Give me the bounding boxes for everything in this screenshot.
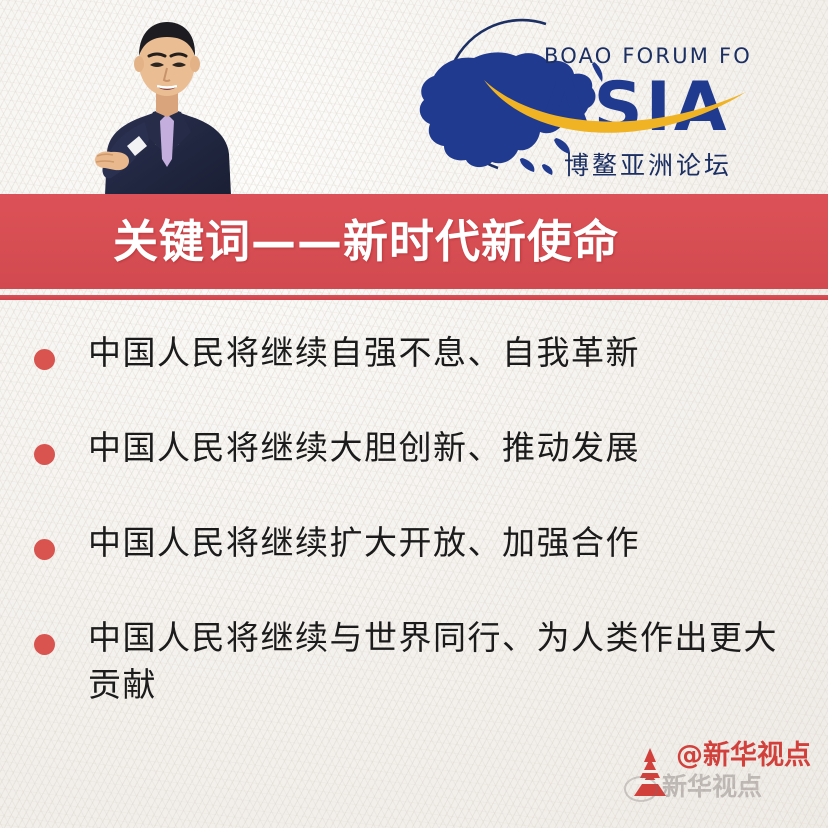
bullet-dot-icon [34,349,55,370]
header-area: BOAO FORUM FOR ASIA 博鳌亚洲论坛 [0,0,828,195]
logo-chinese-text: 博鳌亚洲论坛 [564,151,732,180]
list-item: 中国人民将继续大胆创新、推动发展 [0,425,828,520]
list-item-label: 中国人民将继续自强不息、自我革新 [88,330,640,377]
poster-canvas: BOAO FORUM FOR ASIA 博鳌亚洲论坛 关键词——新时代新使命 中… [0,0,828,828]
xinhua-watermark-text: 新华视点 [662,774,762,799]
list-item-label: 中国人民将继续与世界同行、为人类作出更大贡献 [88,615,788,709]
banner-underline-rule [0,295,828,300]
bullet-dot-icon [34,539,55,560]
logo-line2-text: ASIA [538,68,730,147]
boao-forum-logo: BOAO FORUM FOR ASIA 博鳌亚洲论坛 [398,18,750,186]
list-item-label: 中国人民将继续大胆创新、推动发展 [88,425,640,472]
speaker-portrait [93,4,241,195]
footer-watermark: @新华视点 新华视点 [614,732,814,812]
list-item: 中国人民将继续与世界同行、为人类作出更大贡献 [0,615,828,709]
watermark-circle-icon [624,776,658,802]
list-item: 中国人民将继续自强不息、自我革新 [0,330,828,425]
bullet-dot-icon [34,634,55,655]
banner-title: 关键词——新时代新使命 [113,219,619,264]
xinhua-handle: @新华视点 [676,742,811,769]
section-banner: 关键词——新时代新使命 [0,194,828,289]
list-item-label: 中国人民将继续扩大开放、加强合作 [88,520,640,567]
keyword-bullet-list: 中国人民将继续自强不息、自我革新 中国人民将继续大胆创新、推动发展 中国人民将继… [0,330,828,709]
bullet-dot-icon [34,444,55,465]
logo-line1-text: BOAO FORUM FOR [544,44,750,68]
list-item: 中国人民将继续扩大开放、加强合作 [0,520,828,615]
